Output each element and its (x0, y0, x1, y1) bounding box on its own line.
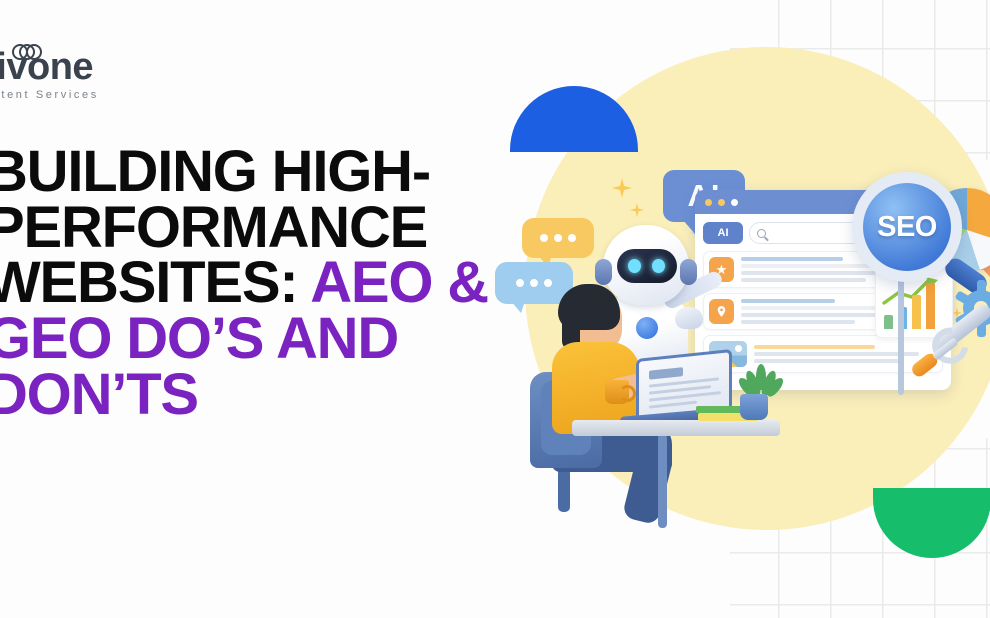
brand-tagline: ontent Services (0, 89, 142, 101)
window-dot-icon (731, 199, 738, 206)
robot-visor (617, 249, 677, 283)
plant-pot (740, 394, 768, 420)
sparkle-icon (612, 178, 632, 198)
robot-ear (680, 259, 697, 285)
robot-eye (652, 259, 665, 273)
magnifier-stand (898, 275, 904, 395)
result-text-lines (754, 341, 937, 367)
brand-logo[interactable]: rivone ontent Services (0, 48, 142, 101)
robot-icon (603, 225, 689, 305)
seo-label: SEO (863, 183, 951, 271)
robot-core-icon (636, 317, 658, 339)
window-dot-icon (705, 199, 712, 206)
window-dot-icon (718, 199, 725, 206)
ai-chip-badge[interactable]: AI (703, 222, 743, 244)
coffee-mug-icon (605, 380, 629, 404)
page-title: BUILDING HIGH- PERFORMANCE WEBSITES: AEO… (0, 144, 526, 422)
three-rings-icon (12, 44, 46, 60)
hero-illustration: AI AI ★ (500, 20, 990, 580)
chair-leg (558, 468, 570, 512)
desk-leg (658, 434, 667, 528)
robot-ear (595, 259, 612, 285)
robot-hand (675, 307, 703, 329)
desk-surface (572, 420, 780, 436)
search-result-row-image[interactable] (703, 335, 943, 373)
speech-bubble-orange (522, 218, 594, 258)
banner-canvas: rivone ontent Services BUILDING HIGH- PE… (0, 0, 990, 618)
robot-eye (628, 259, 641, 273)
search-icon (757, 229, 766, 238)
sparkle-icon (630, 203, 644, 217)
bar-chart (884, 283, 935, 329)
seo-magnifier-icon: SEO (852, 172, 962, 282)
person-hair (558, 284, 620, 330)
location-pin-icon (709, 299, 734, 324)
headline-line-5: DON’TS (0, 362, 198, 427)
